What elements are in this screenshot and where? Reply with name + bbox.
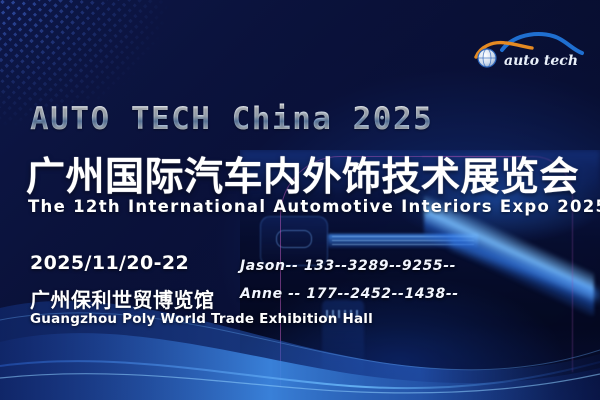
title-chinese: 广州国际汽车内外饰技术展览会 xyxy=(26,146,579,202)
banner-content: AUTO TECH China 2025 广州国际汽车内外饰技术展览会 The … xyxy=(0,0,600,400)
venue-chinese: 广州保利世贸博览馆 xyxy=(30,284,215,313)
event-date: 2025/11/20-22 xyxy=(30,252,189,274)
contact-anne: Anne -- 177--2452--1438-- xyxy=(240,286,459,302)
subtitle-english: The 12th International Automotive Interi… xyxy=(28,197,600,216)
contact-jason: Jason-- 133--3289--9255-- xyxy=(240,258,456,274)
title-english: AUTO TECH China 2025 xyxy=(30,101,433,137)
venue-english: Guangzhou Poly World Trade Exhibition Ha… xyxy=(30,311,373,327)
event-banner: auto tech AUTO TECH China 2025 广州国际汽车内外饰… xyxy=(0,0,600,400)
